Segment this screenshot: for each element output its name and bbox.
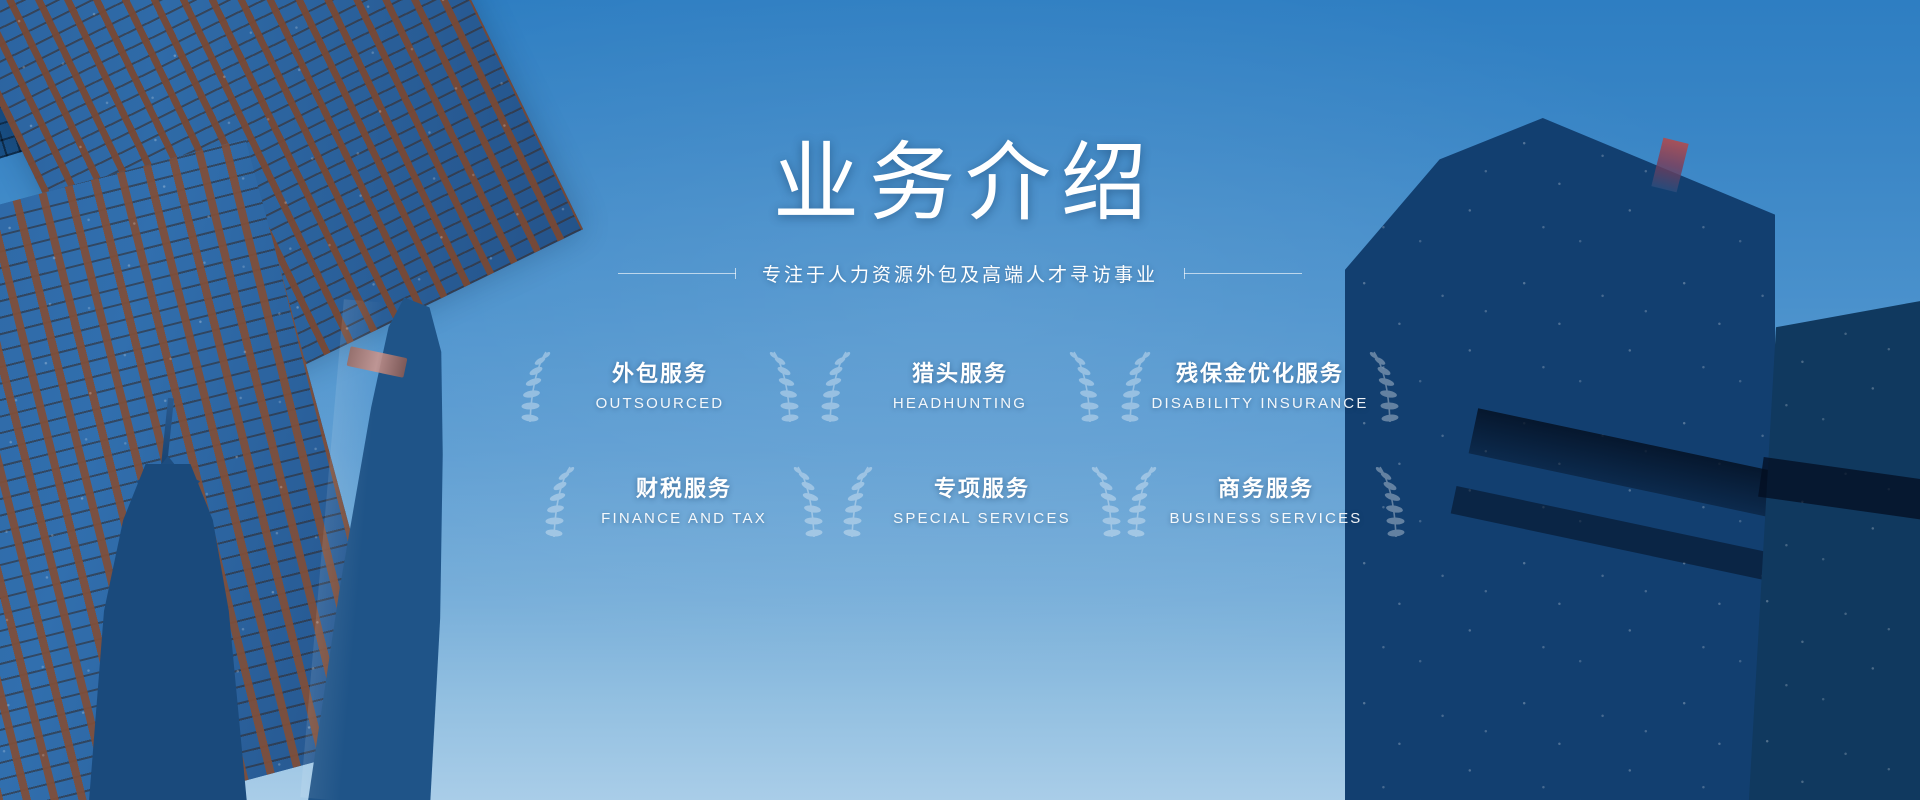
service-name-en: SPECIAL SERVICES xyxy=(893,510,1071,527)
banner-content: 业务介绍 专注于人力资源外包及高端人才寻访事业 xyxy=(0,0,1920,800)
service-name-cn: 财税服务 xyxy=(636,476,732,505)
service-name-en: HEADHUNTING xyxy=(893,395,1027,412)
service-item-headhunting[interactable]: 猎头服务 HEADHUNTING xyxy=(810,339,1110,434)
service-item-special-services[interactable]: 专项服务 SPECIAL SERVICES xyxy=(832,454,1132,549)
service-name-en: DISABILITY INSURANCE xyxy=(1151,395,1368,412)
laurel-icon xyxy=(1368,463,1410,541)
subtitle-rule-left xyxy=(618,273,736,274)
laurel-icon xyxy=(762,348,804,426)
laurel-icon xyxy=(1116,348,1158,426)
laurel-icon xyxy=(1122,463,1164,541)
subtitle-row: 专注于人力资源外包及高端人才寻访事业 xyxy=(618,260,1302,287)
business-intro-banner: 业务介绍 专注于人力资源外包及高端人才寻访事业 xyxy=(0,0,1920,800)
service-name-cn: 专项服务 xyxy=(934,476,1030,505)
laurel-icon xyxy=(516,348,558,426)
subtitle-rule-right xyxy=(1184,273,1302,274)
laurel-icon xyxy=(838,463,880,541)
service-name-en: FINANCE AND TAX xyxy=(601,510,767,527)
service-name-cn: 残保金优化服务 xyxy=(1176,361,1344,390)
service-list: 外包服务 OUTSOURCED xyxy=(510,339,1410,549)
laurel-icon xyxy=(816,348,858,426)
page-title: 业务介绍 xyxy=(763,140,1157,226)
page-subtitle: 专注于人力资源外包及高端人才寻访事业 xyxy=(736,260,1184,287)
laurel-icon xyxy=(786,463,828,541)
service-name-cn: 外包服务 xyxy=(612,361,708,390)
service-item-disability-insurance[interactable]: 残保金优化服务 DISABILITY INSURANCE xyxy=(1110,339,1410,434)
service-item-finance-and-tax[interactable]: 财税服务 FINANCE AND TAX xyxy=(534,454,834,549)
service-name-en: OUTSOURCED xyxy=(596,395,725,412)
laurel-icon xyxy=(1062,348,1104,426)
service-item-business-services[interactable]: 商务服务 BUSINESS SERVICES xyxy=(1116,454,1416,549)
laurel-icon xyxy=(1362,348,1404,426)
service-name-cn: 商务服务 xyxy=(1218,476,1314,505)
service-item-outsourced[interactable]: 外包服务 OUTSOURCED xyxy=(510,339,810,434)
service-name-cn: 猎头服务 xyxy=(912,361,1008,390)
service-name-en: BUSINESS SERVICES xyxy=(1169,510,1362,527)
laurel-icon xyxy=(540,463,582,541)
